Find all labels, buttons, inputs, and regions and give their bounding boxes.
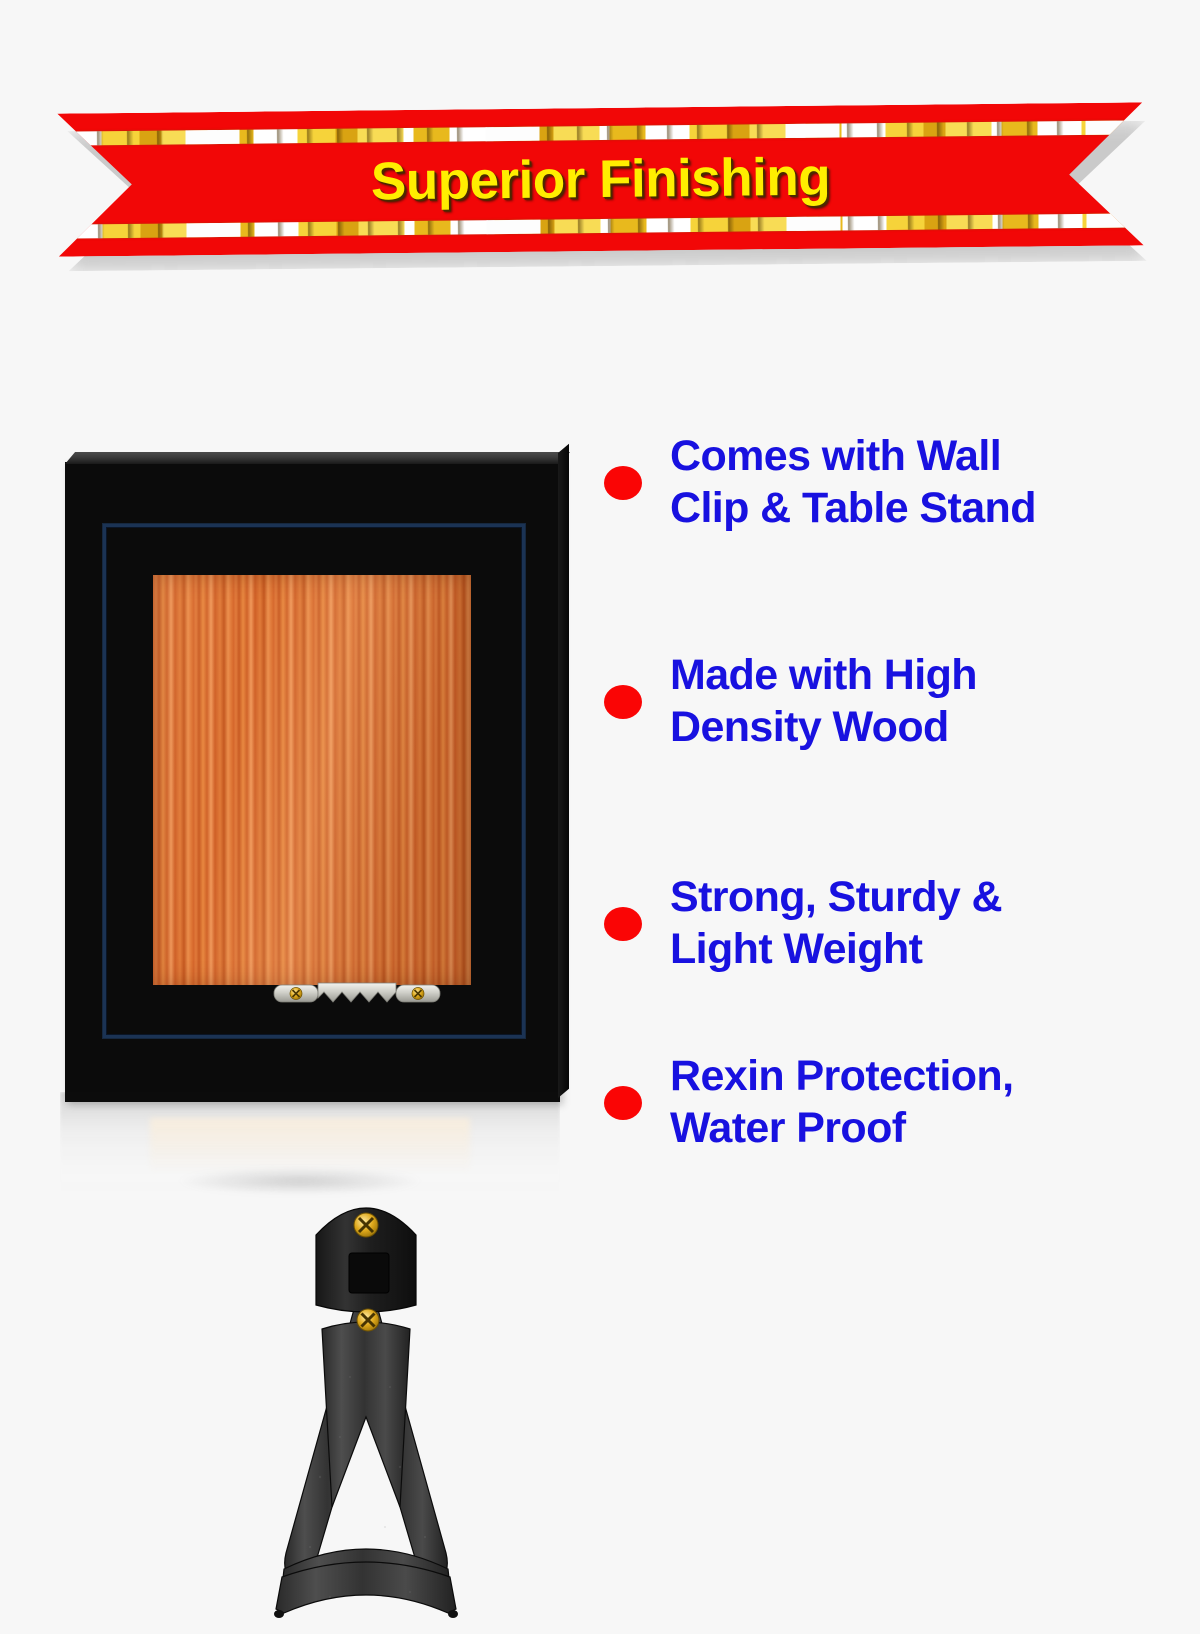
feature-text: Strong, Sturdy & Light Weight (670, 872, 1002, 975)
feature-text: Rexin Protection, Water Proof (670, 1051, 1013, 1154)
stand-floor-shadow (180, 1168, 420, 1194)
feature-item-strong-sturdy-light: Strong, Sturdy & Light Weight (604, 810, 1184, 1038)
bullet-dot-icon (604, 685, 642, 719)
banner-ribbon: Superior Finishing (57, 102, 1143, 256)
feature-text: Comes with Wall Clip & Table Stand (670, 431, 1036, 534)
banner-title: Superior Finishing (57, 102, 1143, 256)
feature-item-high-density-wood: Made with High Density Wood (604, 594, 1184, 810)
infographic-page: Superior Finishing (0, 0, 1200, 1410)
feature-list: Comes with Wall Clip & Table Stand Made … (604, 372, 1184, 1168)
feature-item-rexin-water-proof: Rexin Protection, Water Proof (604, 1038, 1184, 1168)
plaque-reflection-warm (150, 1118, 470, 1173)
wood-panel-sheen (153, 575, 471, 985)
wood-panel (153, 575, 471, 985)
product-image (60, 452, 570, 1182)
bullet-dot-icon (604, 1086, 642, 1120)
wall-clip-icon (273, 980, 441, 1006)
plaque-right-bevel (558, 444, 569, 1098)
bullet-dot-icon (604, 466, 642, 500)
feature-item-wall-clip-table-stand: Comes with Wall Clip & Table Stand (604, 372, 1184, 594)
banner: Superior Finishing (58, 108, 1148, 273)
table-easel-stand (250, 1177, 482, 1629)
plaque-top-bevel (65, 452, 570, 464)
feature-text: Made with High Density Wood (670, 650, 977, 753)
bullet-dot-icon (604, 907, 642, 941)
